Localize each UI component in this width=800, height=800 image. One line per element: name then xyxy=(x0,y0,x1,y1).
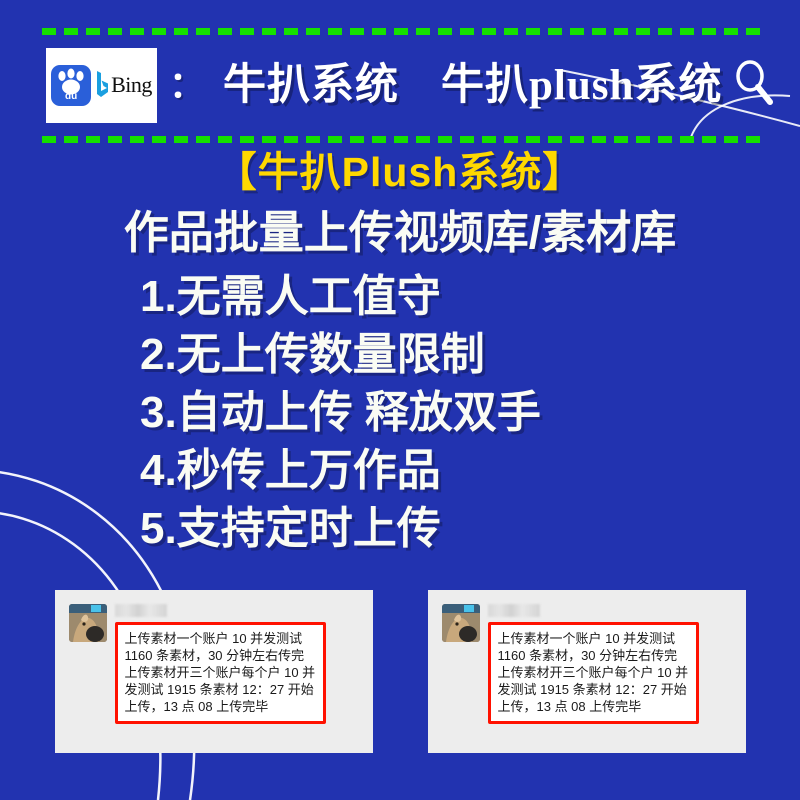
headline: 作品批量上传视频库/素材库 xyxy=(0,208,800,258)
bing-b-icon xyxy=(96,70,109,100)
feature-list: 1.无需人工值守 2.无上传数量限制 3.自动上传 释放双手 4.秒传上万作品 … xyxy=(140,268,700,558)
chat-screenshot-card: 上传素材一个账户 10 并发测试 1160 条素材，30 分钟左右传完 上传素材… xyxy=(428,590,746,753)
feature-item: 3.自动上传 释放双手 xyxy=(140,384,700,442)
magnifier-icon xyxy=(724,54,784,114)
testimonial-cards: 上传素材一个账户 10 并发测试 1160 条素材，30 分钟左右传完 上传素材… xyxy=(0,590,800,753)
chat-content: 上传素材一个账户 10 并发测试 1160 条素材，30 分钟左右传完 上传素材… xyxy=(488,604,734,724)
baidu-paw-icon: du xyxy=(51,65,91,106)
feature-item: 2.无上传数量限制 xyxy=(140,326,700,384)
feature-item: 4.秒传上万作品 xyxy=(140,442,700,500)
bing-logo: Bing xyxy=(93,70,152,100)
bubble-line: 发测试 1915 条素材 12：27 开始 xyxy=(498,681,689,698)
avatar-image xyxy=(442,604,480,642)
header-row: du Bing ： 牛扒系统 牛扒plush系统 xyxy=(0,44,800,126)
chat-screenshot-card: 上传素材一个账户 10 并发测试 1160 条素材，30 分钟左右传完 上传素材… xyxy=(55,590,373,753)
page-title: 【牛扒Plush系统】 xyxy=(0,150,800,195)
bubble-line: 上传素材开三个账户每个户 10 并 xyxy=(498,664,689,681)
header-title-left: 牛扒系统 xyxy=(223,64,399,107)
bubble-line: 发测试 1915 条素材 12：27 开始 xyxy=(125,681,316,698)
bing-label: Bing xyxy=(111,74,152,96)
bubble-line: 上传，13 点 08 上传完毕 xyxy=(125,698,316,715)
chat-bubble: 上传素材一个账户 10 并发测试 1160 条素材，30 分钟左右传完 上传素材… xyxy=(115,622,327,724)
dashed-divider-middle xyxy=(42,136,762,143)
header-title-right: 牛扒plush系统 xyxy=(441,64,722,107)
chat-bubble: 上传素材一个账户 10 并发测试 1160 条素材，30 分钟左右传完 上传素材… xyxy=(488,622,700,724)
header-separator: ： xyxy=(169,67,205,103)
bubble-line: 上传素材一个账户 10 并发测试 xyxy=(125,630,316,647)
bubble-line: 上传，13 点 08 上传完毕 xyxy=(498,698,689,715)
nickname-redacted xyxy=(115,604,167,617)
baidu-label: du xyxy=(65,92,77,102)
bubble-line: 1160 条素材，30 分钟左右传完 xyxy=(498,647,689,664)
bubble-line: 上传素材一个账户 10 并发测试 xyxy=(498,630,689,647)
search-engine-logo-box: du Bing xyxy=(46,48,157,123)
nickname-redacted xyxy=(488,604,540,617)
bubble-line: 上传素材开三个账户每个户 10 并 xyxy=(125,664,316,681)
chat-content: 上传素材一个账户 10 并发测试 1160 条素材，30 分钟左右传完 上传素材… xyxy=(115,604,361,724)
avatar-image xyxy=(69,604,107,642)
feature-item: 5.支持定时上传 xyxy=(140,500,700,558)
dashed-divider-top xyxy=(42,28,762,35)
feature-item: 1.无需人工值守 xyxy=(140,268,700,326)
pet-photo-avatar xyxy=(442,604,480,642)
pet-photo-avatar xyxy=(69,604,107,642)
poster-root: du Bing ： 牛扒系统 牛扒plush系统 【牛扒Plush系统】 作品批… xyxy=(0,0,800,800)
bubble-line: 1160 条素材，30 分钟左右传完 xyxy=(125,647,316,664)
